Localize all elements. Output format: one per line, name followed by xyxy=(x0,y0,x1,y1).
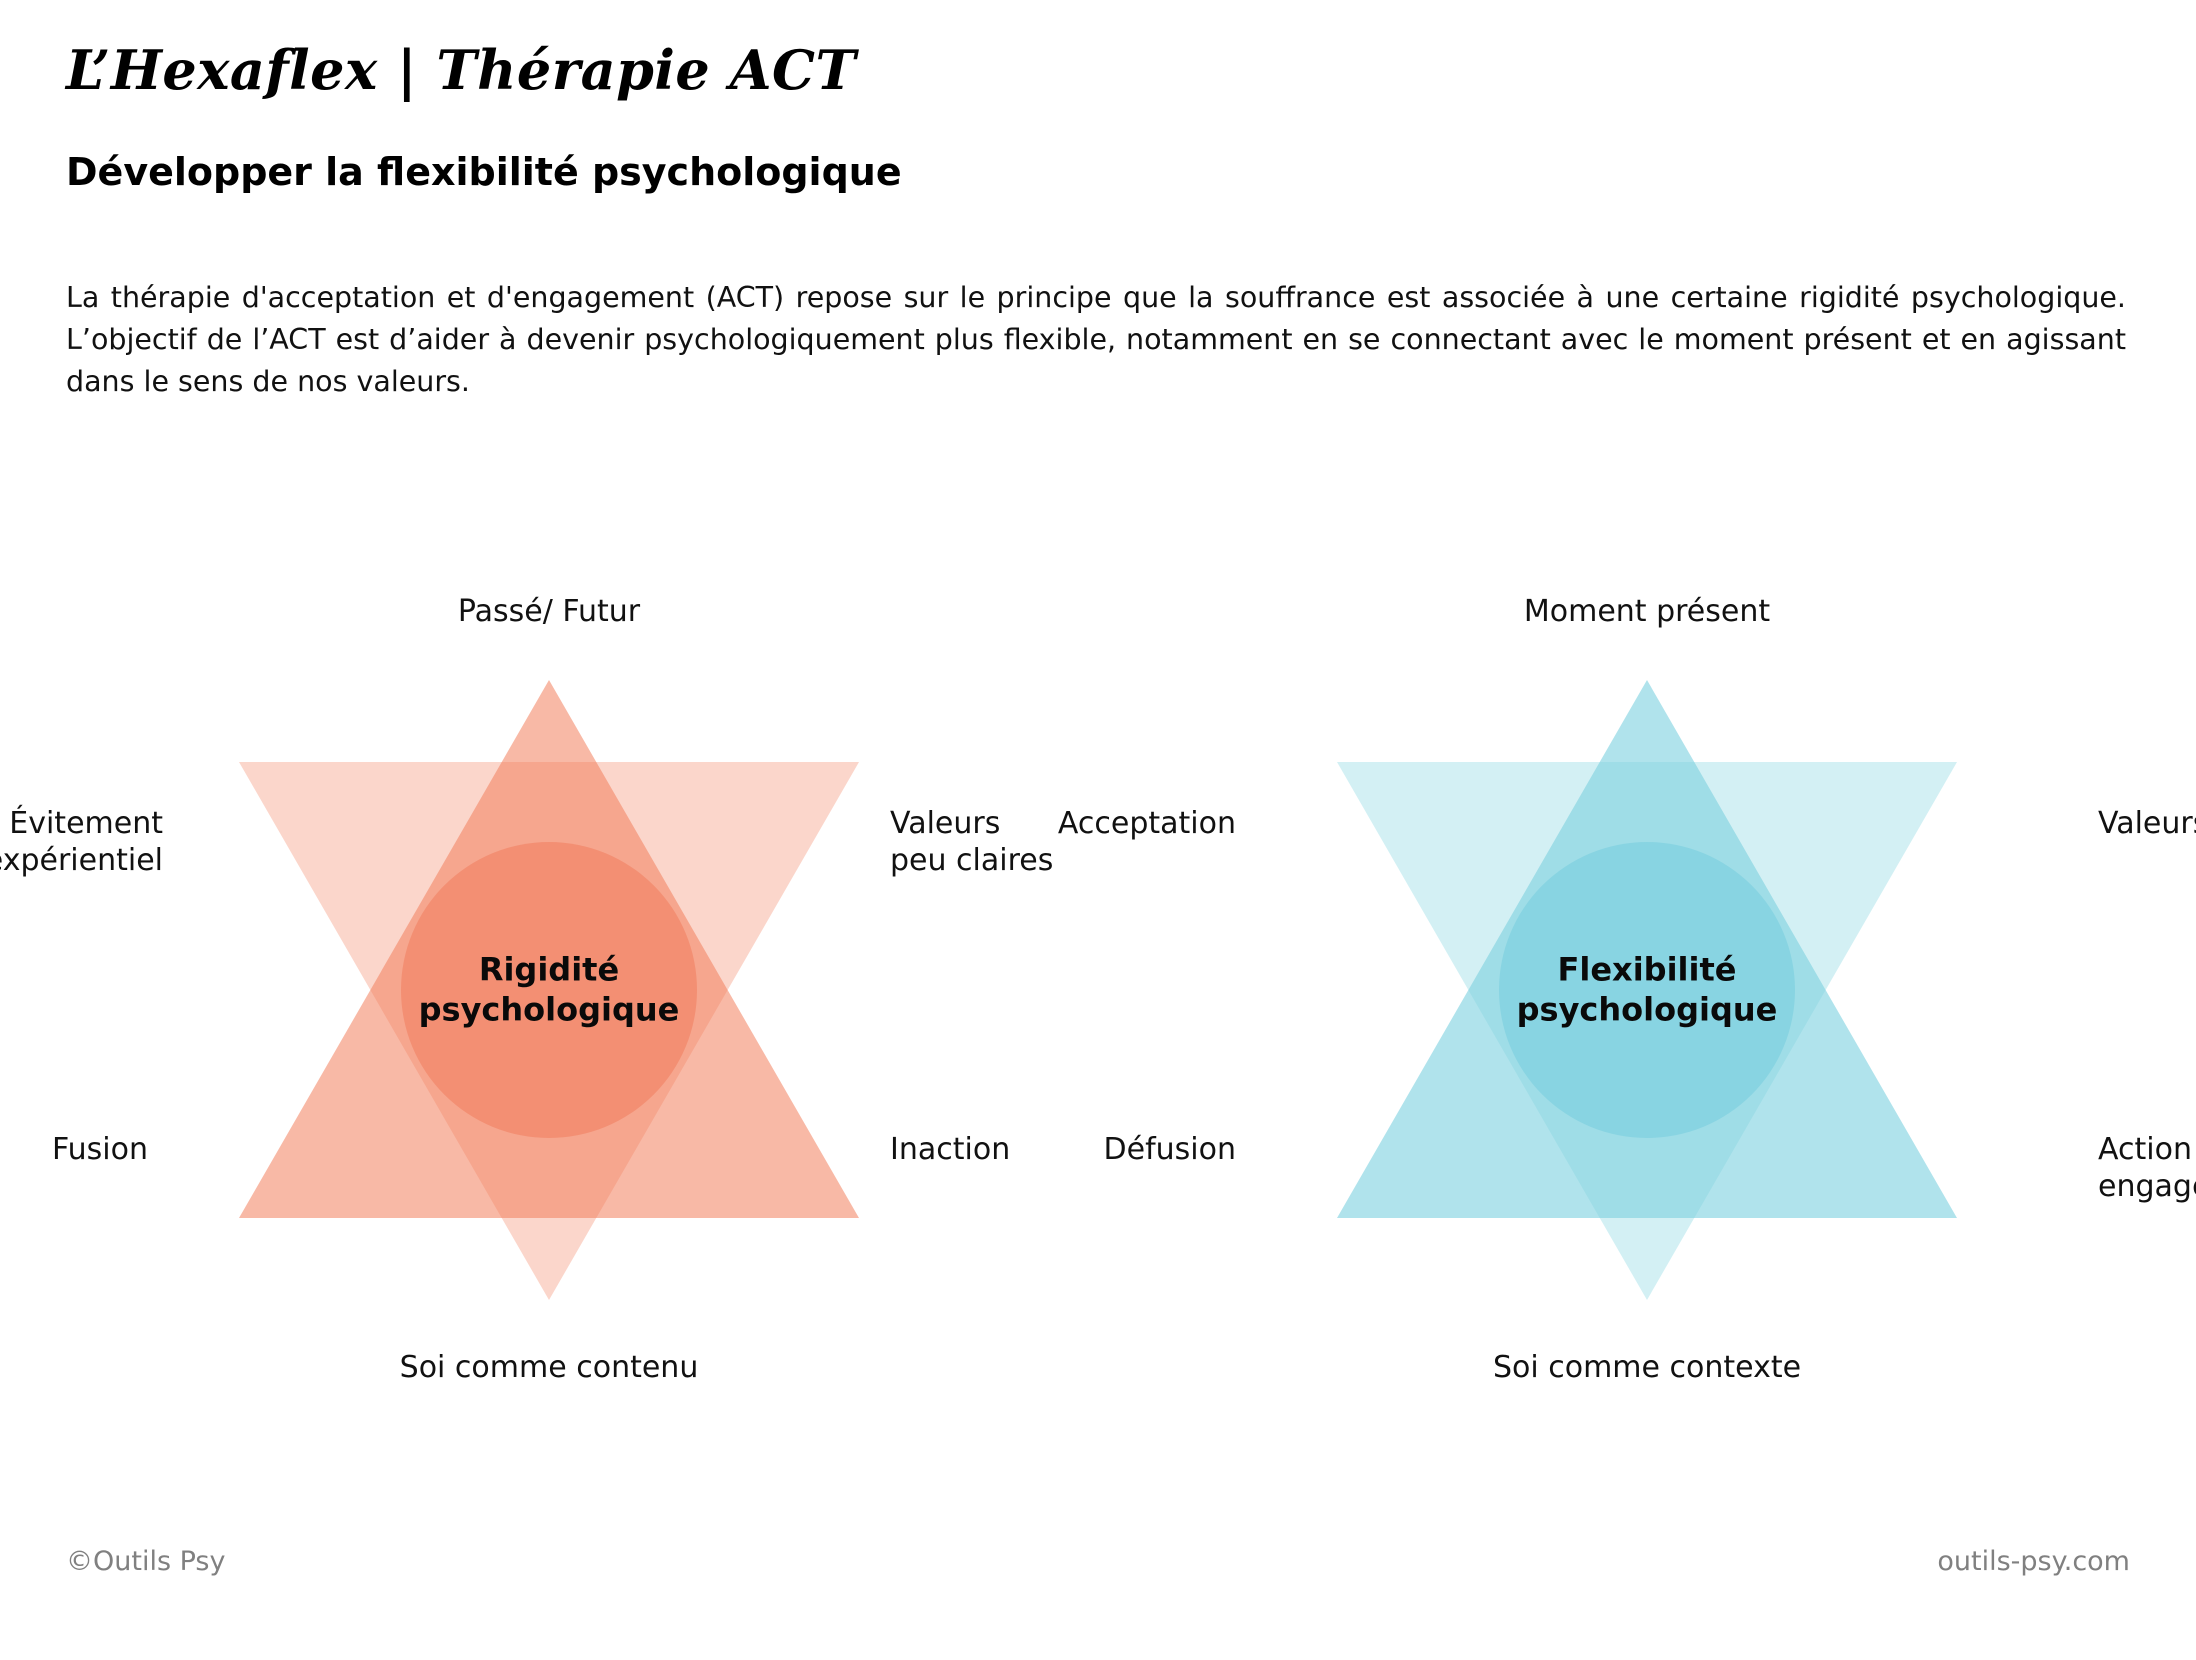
vertex-label-upper-right: Valeurs peu claires xyxy=(890,806,1053,879)
vertex-label-lower-right: Inaction xyxy=(890,1132,1010,1169)
vertex-label-lower-left: Fusion xyxy=(52,1132,148,1169)
vertex-label-lower-right: Action engagée xyxy=(2098,1132,2196,1205)
vertex-label-upper-left: Acceptation xyxy=(1058,806,1236,843)
vertex-label-top: Passé/ Futur xyxy=(458,594,640,631)
page-subtitle: Développer la flexibilité psychologique xyxy=(66,150,902,194)
vertex-label-upper-left: Évitement expérientiel xyxy=(0,806,163,879)
center-circle xyxy=(1499,842,1795,1138)
hexagram-shape-rigidite xyxy=(199,640,899,1340)
vertex-label-bottom: Soi comme contenu xyxy=(400,1350,699,1387)
vertex-label-top: Moment présent xyxy=(1524,594,1770,631)
vertex-label-lower-left: Défusion xyxy=(1104,1132,1236,1169)
vertex-label-upper-right: Valeurs xyxy=(2098,806,2196,843)
vertex-label-bottom: Soi comme contexte xyxy=(1493,1350,1801,1387)
page-title: L’Hexaflex | Thérapie ACT xyxy=(66,38,856,102)
intro-paragraph: La thérapie d'acceptation et d'engagemen… xyxy=(66,277,2126,404)
footer-website: outils-psy.com xyxy=(1937,1546,2130,1577)
hexaflex-flexibilite: Moment présent Valeurs Action engagée So… xyxy=(1098,560,2196,1420)
footer-copyright: ©Outils Psy xyxy=(66,1546,225,1577)
hexagram-shape-flexibilite xyxy=(1297,640,1997,1340)
hexaflex-diagram-area: Passé/ Futur Valeurs peu claires Inactio… xyxy=(0,560,2196,1420)
hexaflex-rigidite: Passé/ Futur Valeurs peu claires Inactio… xyxy=(0,560,1098,1420)
center-circle xyxy=(401,842,697,1138)
